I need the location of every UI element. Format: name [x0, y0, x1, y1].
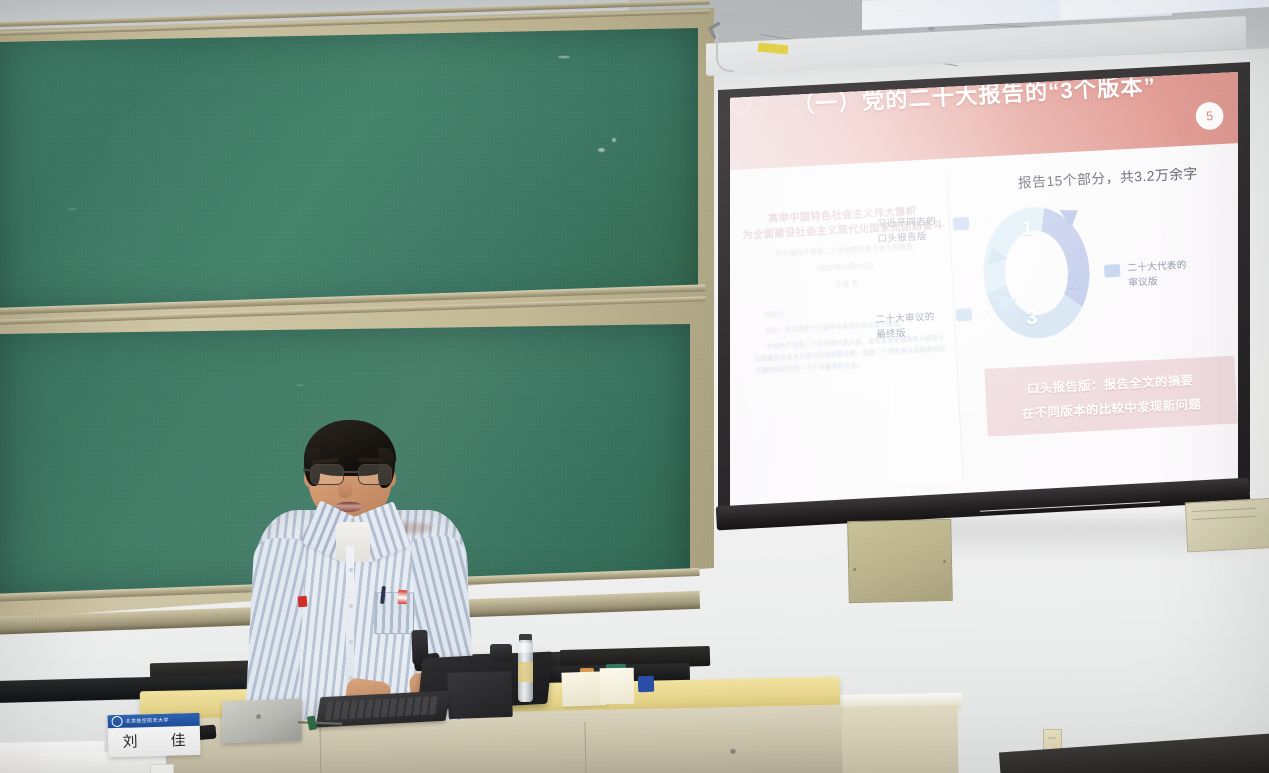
envelope-icon — [953, 217, 970, 231]
nameplate-university: 北京航空航天大学 — [126, 717, 169, 725]
utility-access-panel — [847, 519, 953, 603]
cycle-number-3: 3 — [1026, 307, 1038, 331]
folder-icon — [956, 308, 973, 322]
slide-conclusion-banner: 口头报告版：报告全文的摘要 在不同版本的比较中发现新问题 — [984, 356, 1237, 437]
connector-dots: · · — [977, 307, 992, 317]
connector-dots: · · — [1083, 265, 1098, 275]
presentation-slide: BH 北京航空航天大学 （一）党的二十大报告的“3个版本” 5 高举中国特色社会… — [730, 72, 1238, 508]
party-emblem-badge — [398, 590, 408, 604]
connector-dots: · · — [974, 216, 989, 226]
desk-nameplate: 北京航空航天大学 刘 佳 — [107, 713, 200, 757]
glasses-bridge — [342, 471, 358, 473]
nameplate-name: 刘 佳 — [108, 729, 201, 752]
laptop-computer[interactable] — [222, 699, 303, 744]
projection-screen-surface: BH 北京航空航天大学 （一）党的二十大报告的“3个版本” 5 高举中国特色社会… — [730, 72, 1238, 508]
cycle-label-2-line-2: 审议版 — [1128, 272, 1211, 291]
slide-subtitle: 报告15个部分，共3.2万余字 — [982, 160, 1233, 193]
slide-page-number: 5 — [1195, 101, 1224, 130]
cycle-label-2: 二十大代表的 审议版 — [1127, 257, 1211, 291]
eyeglasses-icon — [308, 464, 394, 484]
university-seal-icon — [111, 716, 122, 727]
left-arm — [246, 537, 307, 711]
black-container — [490, 644, 512, 662]
classroom-photo: BH 北京航空航天大学 （一）党的二十大报告的“3个版本” 5 高举中国特色社会… — [0, 0, 1269, 773]
bottle-label — [518, 662, 533, 682]
monitor-stand — [447, 671, 513, 719]
chalk-marks — [0, 28, 698, 310]
nameplate-header-band: 北京航空航天大学 — [107, 713, 200, 728]
red-lapel-pin — [298, 596, 308, 608]
cycle-number-1: 1 — [1021, 218, 1033, 242]
cycle-label-3: 二十大审议的 最终版 — [875, 309, 955, 343]
asset-tag — [150, 764, 174, 773]
paper-stack — [600, 668, 635, 705]
blue-box — [638, 676, 655, 693]
banner-line-1: 口头报告版：报告全文的摘要 — [1027, 371, 1194, 397]
cycle-number-2: 2 — [1066, 271, 1078, 295]
document-subtitle-line-3: 习 近 平 — [740, 274, 952, 296]
nose — [338, 480, 352, 498]
screen-power-cable — [716, 34, 734, 72]
chalkboard-upper-panel — [0, 28, 698, 310]
podium-lock-knob[interactable] — [730, 748, 736, 754]
right-lens — [358, 464, 392, 485]
briefcase-icon — [1104, 264, 1121, 278]
cycle-label-1: 习近平同志的 口头报告版 — [876, 214, 952, 247]
wall-cabinet — [1185, 498, 1269, 553]
banner-line-2: 在不同版本的比较中发现新问题 — [1022, 395, 1202, 421]
side-table-body — [827, 705, 958, 773]
